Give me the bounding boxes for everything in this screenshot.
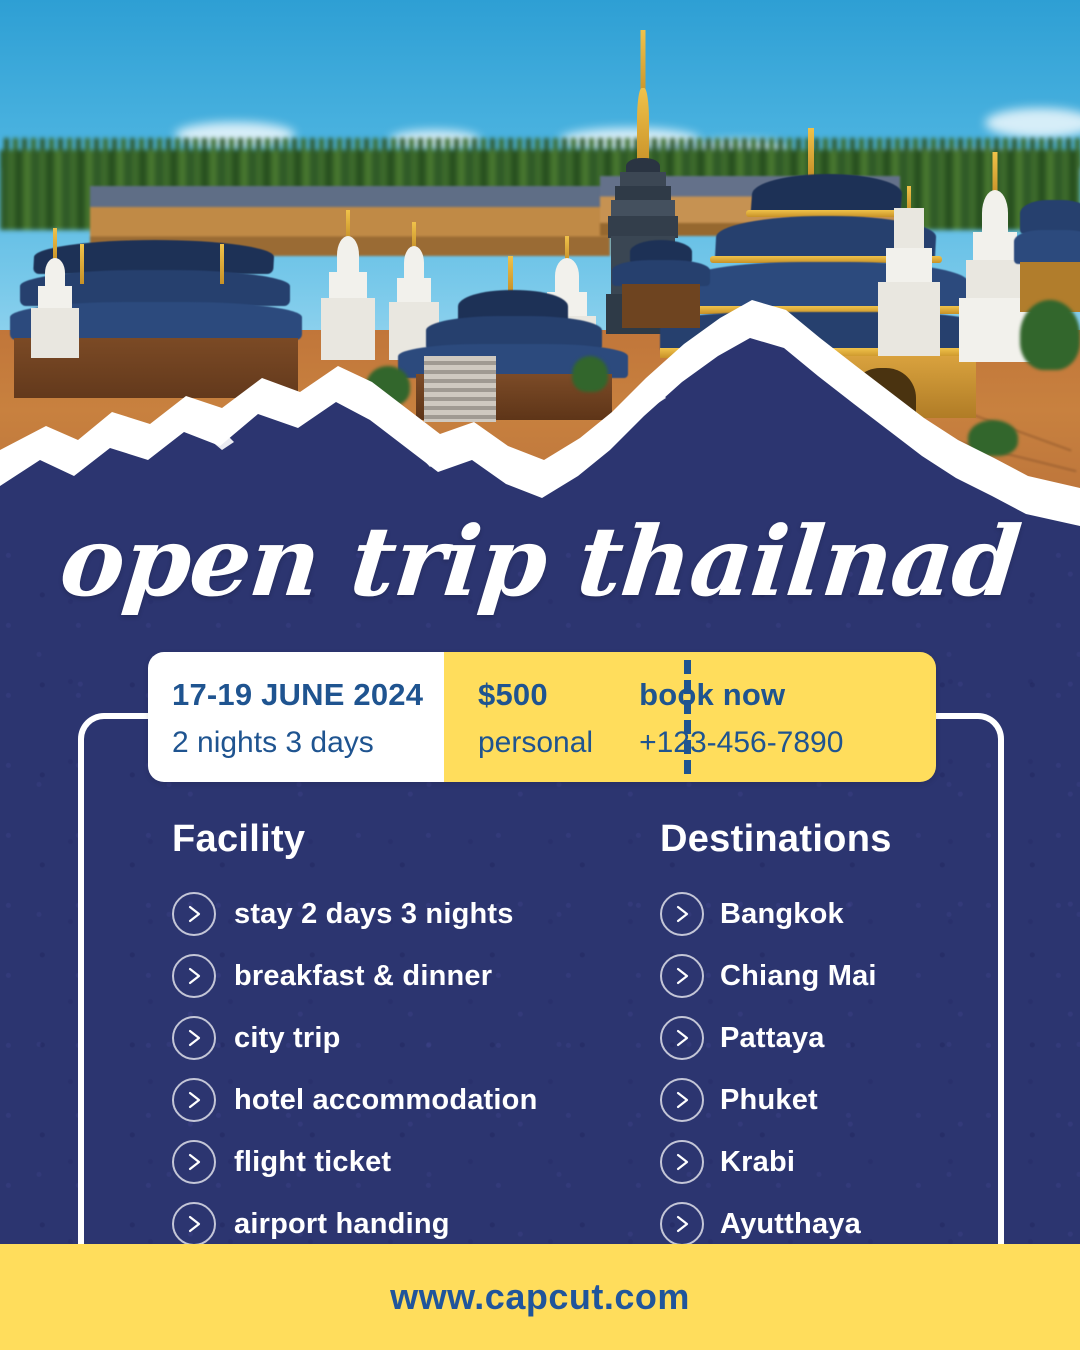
destination-item-label: Pattaya bbox=[720, 1022, 825, 1055]
chevron-right-circle-icon bbox=[172, 1016, 216, 1060]
chevron-right-circle-icon bbox=[172, 1078, 216, 1122]
price-unit: personal bbox=[478, 726, 593, 759]
destination-item-label: Ayutthaya bbox=[720, 1208, 861, 1241]
chevron-right-circle-icon bbox=[660, 954, 704, 998]
chevron-right-circle-icon bbox=[172, 1140, 216, 1184]
facility-heading: Facility bbox=[172, 818, 652, 861]
list-item: Chiang Mai bbox=[660, 945, 1040, 1007]
phone-number[interactable]: +123-456-7890 bbox=[639, 726, 843, 759]
website-url[interactable]: www.capcut.com bbox=[390, 1276, 690, 1318]
list-item: city trip bbox=[172, 1007, 652, 1069]
chevron-right-circle-icon bbox=[172, 954, 216, 998]
facility-item-label: airport handing bbox=[234, 1208, 450, 1241]
list-item: flight ticket bbox=[172, 1131, 652, 1193]
trip-duration: 2 nights 3 days bbox=[172, 726, 444, 759]
price-block: $500 personal bbox=[444, 652, 593, 782]
list-item: hotel accommodation bbox=[172, 1069, 652, 1131]
facility-item-label: city trip bbox=[234, 1022, 341, 1055]
facility-item-label: hotel accommodation bbox=[234, 1084, 538, 1117]
footer-bar: www.capcut.com bbox=[0, 1244, 1080, 1350]
list-item: Phuket bbox=[660, 1069, 1040, 1131]
destination-item-label: Bangkok bbox=[720, 898, 844, 931]
chevron-right-circle-icon bbox=[660, 1202, 704, 1246]
facility-item-label: stay 2 days 3 nights bbox=[234, 898, 514, 931]
travel-poster: open trip thailnad 17-19 JUNE 2024 2 nig… bbox=[0, 0, 1080, 1350]
chevron-right-circle-icon bbox=[660, 1140, 704, 1184]
contact-block: book now +123-456-7890 bbox=[593, 652, 843, 782]
chevron-right-circle-icon bbox=[660, 1078, 704, 1122]
price-contact-panel: $500 personal book now +123-456-7890 bbox=[444, 652, 936, 782]
destination-item-label: Phuket bbox=[720, 1084, 818, 1117]
chevron-right-circle-icon bbox=[660, 1016, 704, 1060]
destination-item-label: Chiang Mai bbox=[720, 960, 877, 993]
trip-price: $500 bbox=[478, 678, 593, 712]
trip-dates: 17-19 JUNE 2024 bbox=[172, 678, 444, 712]
page-title: open trip thailnad bbox=[0, 512, 1080, 613]
trip-info-bar: 17-19 JUNE 2024 2 nights 3 days $500 per… bbox=[148, 652, 936, 782]
facility-column: Facility stay 2 days 3 nights breakfast … bbox=[172, 818, 652, 1255]
book-now-label[interactable]: book now bbox=[639, 678, 843, 712]
list-item: Pattaya bbox=[660, 1007, 1040, 1069]
chevron-right-circle-icon bbox=[172, 1202, 216, 1246]
facility-item-label: breakfast & dinner bbox=[234, 960, 492, 993]
date-panel: 17-19 JUNE 2024 2 nights 3 days bbox=[148, 652, 444, 782]
list-item: stay 2 days 3 nights bbox=[172, 883, 652, 945]
facility-item-label: flight ticket bbox=[234, 1146, 391, 1179]
dashed-divider bbox=[684, 660, 691, 774]
list-item: Bangkok bbox=[660, 883, 1040, 945]
list-item: breakfast & dinner bbox=[172, 945, 652, 1007]
destination-item-label: Krabi bbox=[720, 1146, 795, 1179]
destinations-heading: Destinations bbox=[660, 818, 1040, 861]
list-item: Krabi bbox=[660, 1131, 1040, 1193]
chevron-right-circle-icon bbox=[172, 892, 216, 936]
destinations-column: Destinations Bangkok Chiang Mai Pattaya bbox=[660, 818, 1040, 1255]
chevron-right-circle-icon bbox=[660, 892, 704, 936]
